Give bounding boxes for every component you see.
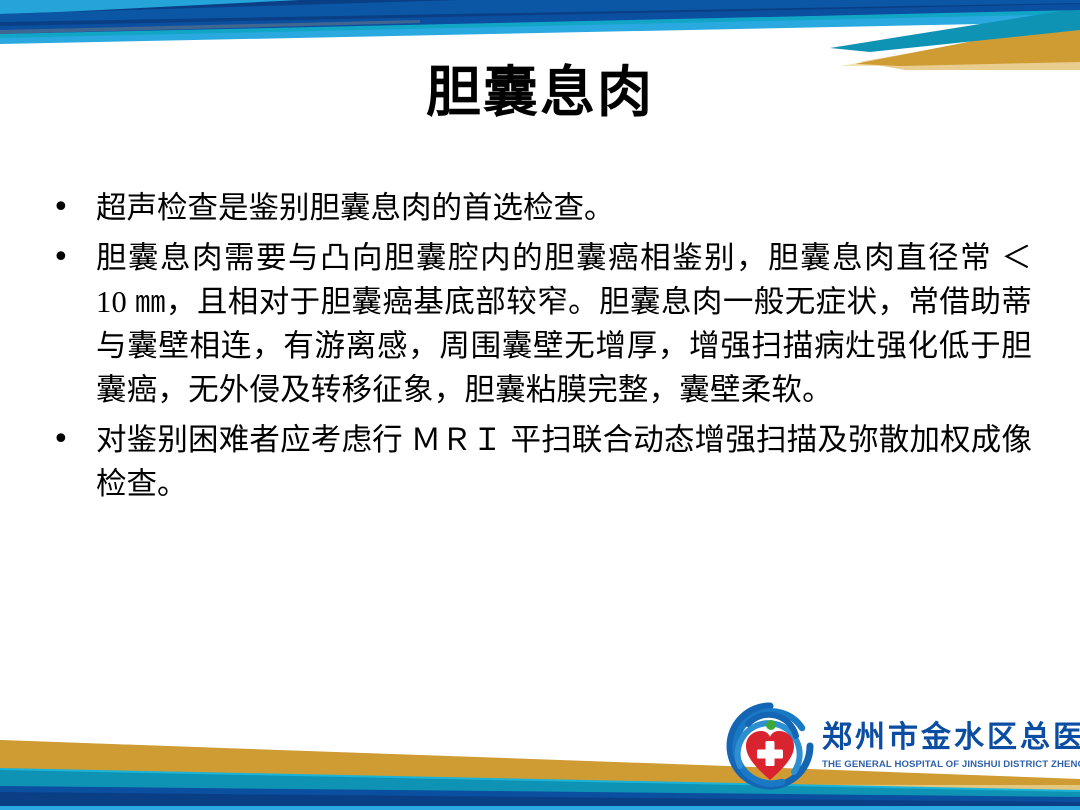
slide-title-container: 胆囊息肉 xyxy=(0,62,1080,123)
list-item: • 超声检查是鉴别胆囊息肉的首选检查。 xyxy=(52,186,1032,230)
bullet-text: 对鉴别困难者应考虑行 ＭＲＩ 平扫联合动态增强扫描及弥散加权成像检查。 xyxy=(96,418,1032,506)
hospital-name-cn: 郑州市金水区总医院 xyxy=(822,722,1080,754)
bullet-list: • 超声检查是鉴别胆囊息肉的首选检查。 • 胆囊息肉需要与凸向胆囊腔内的胆囊癌相… xyxy=(52,186,1032,512)
heart-cross-swirl-icon xyxy=(724,700,816,792)
bullet-text: 超声检查是鉴别胆囊息肉的首选检查。 xyxy=(96,186,1032,230)
bullet-marker-icon: • xyxy=(52,186,96,230)
bullet-text: 胆囊息肉需要与凸向胆囊腔内的胆囊癌相鉴别，胆囊息肉直径常 ＜ 10 ㎜，且相对于… xyxy=(96,236,1032,412)
presentation-slide: 胆囊息肉 • 超声检查是鉴别胆囊息肉的首选检查。 • 胆囊息肉需要与凸向胆囊腔内… xyxy=(0,0,1080,810)
logo-text-block: 郑州市金水区总医院 THE GENERAL HOSPITAL OF JINSHU… xyxy=(822,722,1080,770)
bullet-marker-icon: • xyxy=(52,418,96,462)
bullet-marker-icon: • xyxy=(52,236,96,280)
list-item: • 胆囊息肉需要与凸向胆囊腔内的胆囊癌相鉴别，胆囊息肉直径常 ＜ 10 ㎜，且相… xyxy=(52,236,1032,412)
hospital-logo: 郑州市金水区总医院 THE GENERAL HOSPITAL OF JINSHU… xyxy=(724,698,1064,794)
list-item: • 对鉴别困难者应考虑行 ＭＲＩ 平扫联合动态增强扫描及弥散加权成像检查。 xyxy=(52,418,1032,506)
hospital-name-en: THE GENERAL HOSPITAL OF JINSHUI DISTRICT… xyxy=(822,759,1080,770)
page-title: 胆囊息肉 xyxy=(426,62,654,123)
